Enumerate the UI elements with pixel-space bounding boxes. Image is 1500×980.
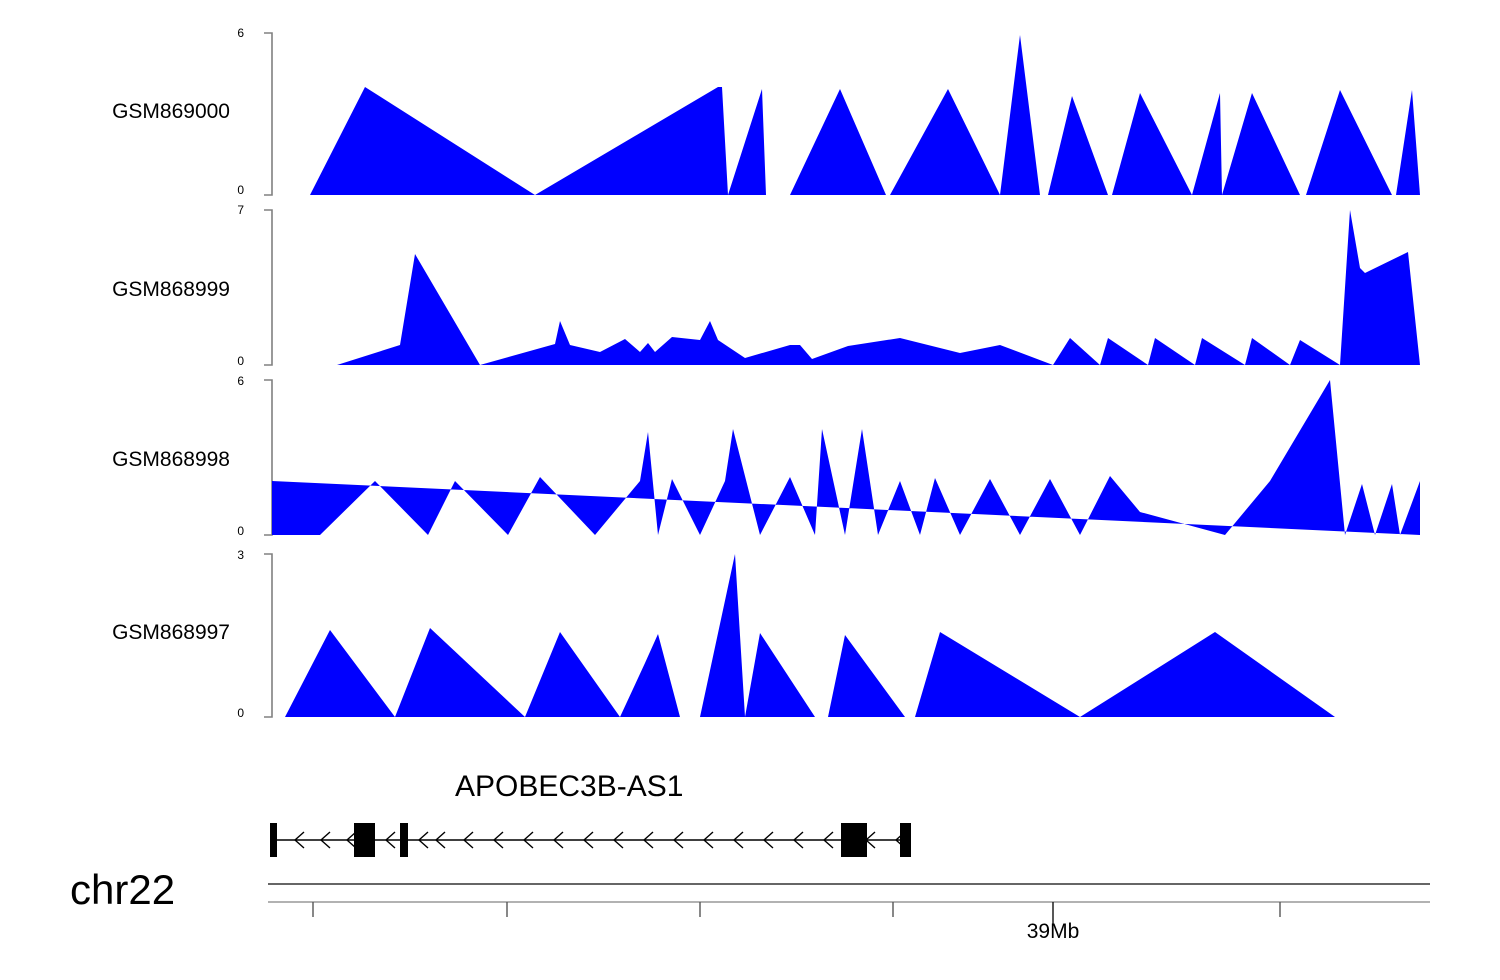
gene-exon: [400, 823, 408, 857]
track-axis-min-0: 0: [212, 183, 244, 197]
track-label-gsm869000: GSM869000: [0, 100, 230, 124]
track-label-gsm868999: GSM868999: [0, 278, 230, 302]
coverage-area-2: [272, 380, 1420, 535]
track-axis-max-0: 6: [212, 26, 244, 40]
coverage-track-gsm869000[interactable]: [255, 25, 1500, 205]
chromosome-label: chr22: [70, 866, 175, 914]
track-axis-max-1: 7: [212, 203, 244, 217]
axis-bracket-2: [264, 380, 272, 535]
coverage-area-3: [285, 554, 1335, 717]
track-axis-max-2: 6: [212, 374, 244, 388]
coverage-track-gsm868997[interactable]: [255, 547, 1500, 727]
axis-bracket-3: [264, 554, 272, 717]
axis-bracket-1: [264, 210, 272, 365]
gene-exon: [841, 823, 867, 857]
coverage-track-gsm868998[interactable]: [255, 373, 1500, 545]
coverage-area-1: [337, 210, 1420, 365]
gene-exon: [270, 823, 277, 857]
track-axis-min-1: 0: [212, 354, 244, 368]
track-axis-min-3: 0: [212, 706, 244, 720]
ruler-tick-label-39mb: 39Mb: [1027, 920, 1080, 944]
track-axis-max-3: 3: [212, 548, 244, 562]
track-axis-min-2: 0: [212, 524, 244, 538]
coverage-area-0: [275, 35, 1420, 195]
coverage-track-gsm868999[interactable]: [255, 203, 1500, 375]
track-label-gsm868997: GSM868997: [0, 621, 230, 645]
gene-name-label: APOBEC3B-AS1: [455, 770, 683, 804]
chromosome-ruler[interactable]: [255, 875, 1500, 925]
genome-browser: GSM869000 6 0 GSM868999 7 0 GSM868998 6 …: [0, 0, 1500, 980]
gene-exon: [354, 823, 375, 857]
gene-exon: [900, 823, 911, 857]
axis-bracket-0: [264, 33, 272, 195]
gene-model-track[interactable]: [255, 810, 1500, 865]
track-label-gsm868998: GSM868998: [0, 448, 230, 472]
